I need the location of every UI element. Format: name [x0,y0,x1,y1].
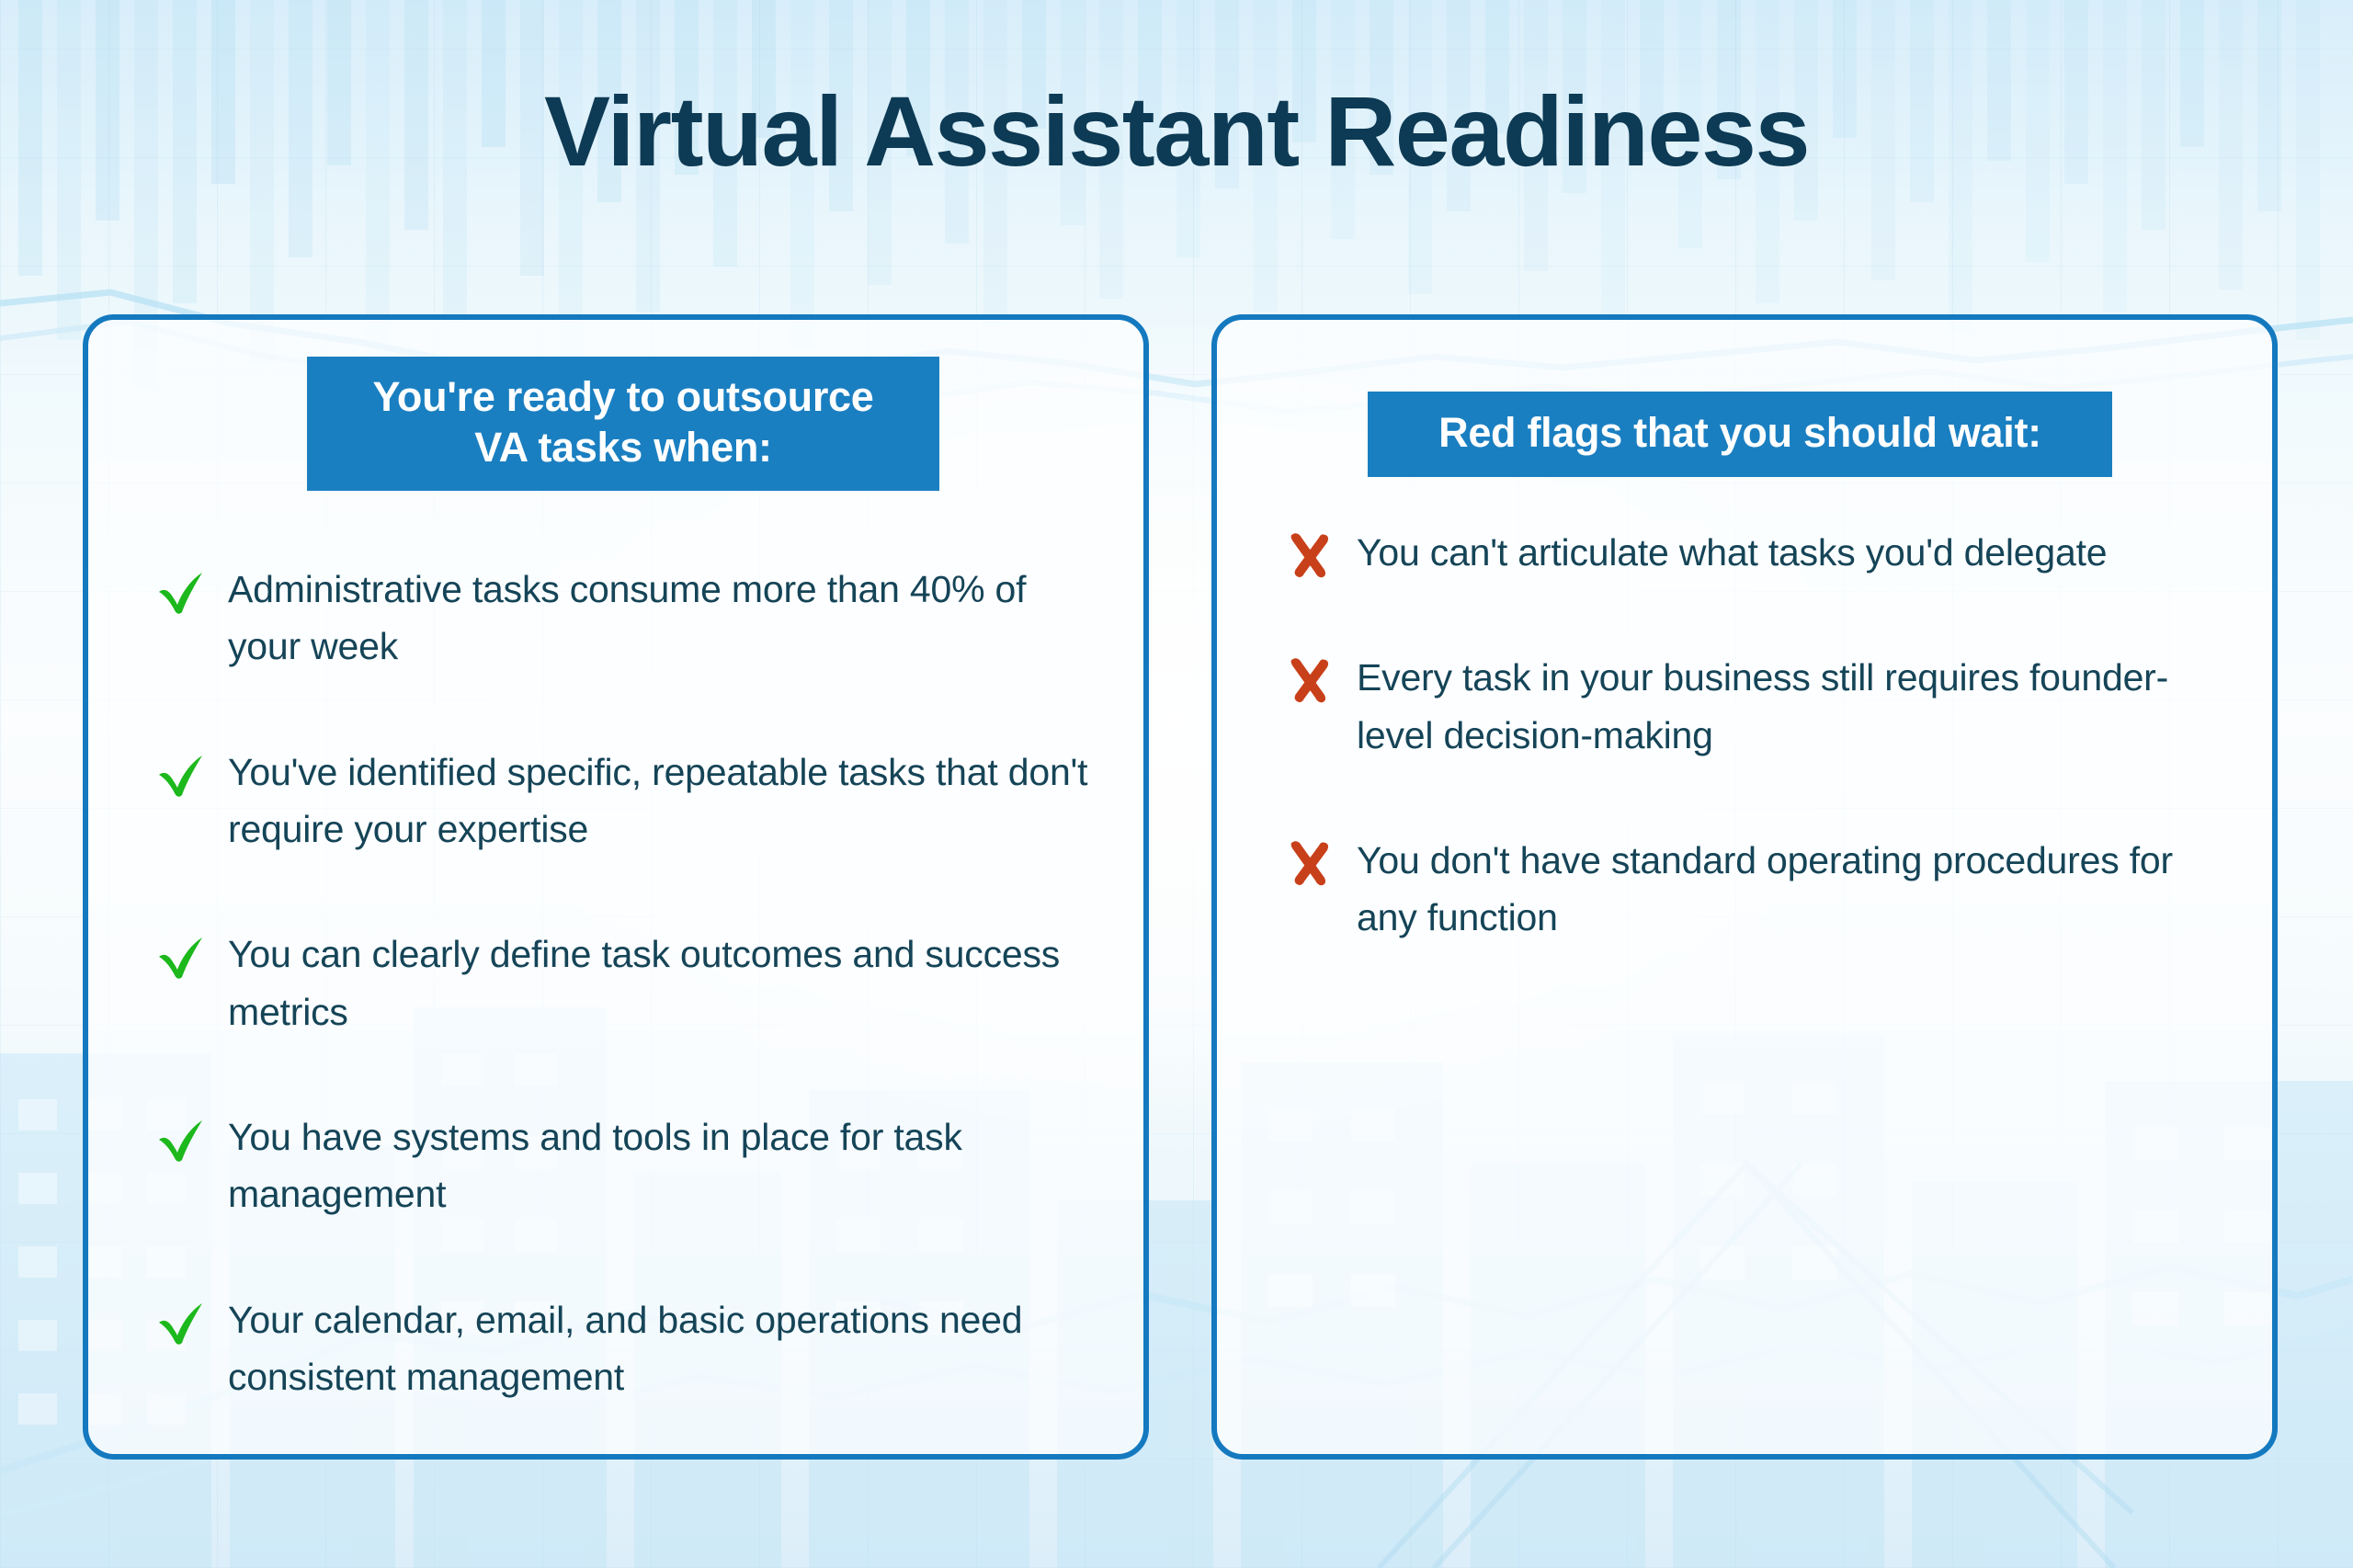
list-item-text: You have systems and tools in place for … [228,1108,1090,1223]
list-item-text: Administrative tasks consume more than 4… [228,561,1090,676]
list-item: You can clearly define task outcomes and… [154,926,1090,1040]
ready-to-outsource-card: You're ready to outsource VA tasks when:… [83,314,1149,1460]
list-item-text: You can't articulate what tasks you'd de… [1357,524,2107,581]
ready-card-header: You're ready to outsource VA tasks when: [307,357,939,491]
red-flags-card: Red flags that you should wait: You can'… [1211,314,2278,1460]
check-icon [154,564,208,618]
cross-icon [1283,528,1336,581]
redflags-card-header: Red flags that you should wait: [1368,392,2112,477]
list-item: You don't have standard operating proced… [1283,832,2235,947]
check-icon [154,747,208,801]
list-item-text: Your calendar, email, and basic operatio… [228,1291,1090,1406]
page-title: Virtual Assistant Readiness [0,79,2353,183]
list-item-text: You can clearly define task outcomes and… [228,926,1090,1040]
cross-icon [1283,653,1336,706]
ready-card-header-line2: VA tasks when: [474,424,771,471]
infographic-page: Virtual Assistant Readiness You're ready… [0,0,2353,1568]
ready-items-list: Administrative tasks consume more than 4… [88,561,1143,1473]
ready-card-header-line1: You're ready to outsource [373,373,874,420]
check-icon [154,1295,208,1348]
check-icon [154,929,208,983]
list-item-text: You've identified specific, repeatable t… [228,744,1090,858]
list-item-text: Every task in your business still requir… [1357,649,2235,764]
list-item: Every task in your business still requir… [1283,649,2235,764]
list-item: Administrative tasks consume more than 4… [154,561,1090,676]
redflags-items-list: You can't articulate what tasks you'd de… [1217,524,2272,1015]
list-item: Your calendar, email, and basic operatio… [154,1291,1090,1406]
cross-icon [1283,835,1336,889]
check-icon [154,1112,208,1165]
list-item-text: You don't have standard operating proced… [1357,832,2235,947]
list-item: You've identified specific, repeatable t… [154,744,1090,858]
list-item: You can't articulate what tasks you'd de… [1283,524,2235,581]
list-item: You have systems and tools in place for … [154,1108,1090,1223]
